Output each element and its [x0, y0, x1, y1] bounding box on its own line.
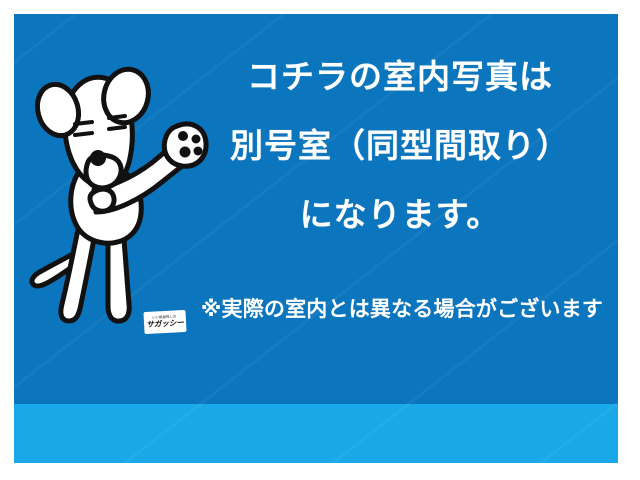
headline-block: コチラの室内写真は 別号室（同型間取り） になります。: [194, 60, 606, 231]
dog-mascot-illustration: [22, 52, 212, 337]
headline-line-3: になります。: [194, 198, 606, 231]
disclaimer-text: ※実際の室内とは異なる場合がございます: [186, 293, 618, 323]
badge-brand-name: サガッシー: [146, 319, 184, 328]
dog-chest-paw: [90, 189, 114, 211]
dog-mascot-svg: [22, 52, 212, 337]
placeholder-card: いい部屋探しの サガッシー コチラの室内写真は 別号室（同型間取り） になります…: [14, 14, 618, 463]
headline-line-2: 別号室（同型間取り）: [194, 129, 606, 162]
bottom-color-band: [14, 404, 618, 463]
mascot-brand-badge: いい部屋探しの サガッシー: [143, 310, 186, 334]
dog-nose: [90, 150, 106, 166]
headline-line-1: コチラの室内写真は: [194, 60, 606, 93]
